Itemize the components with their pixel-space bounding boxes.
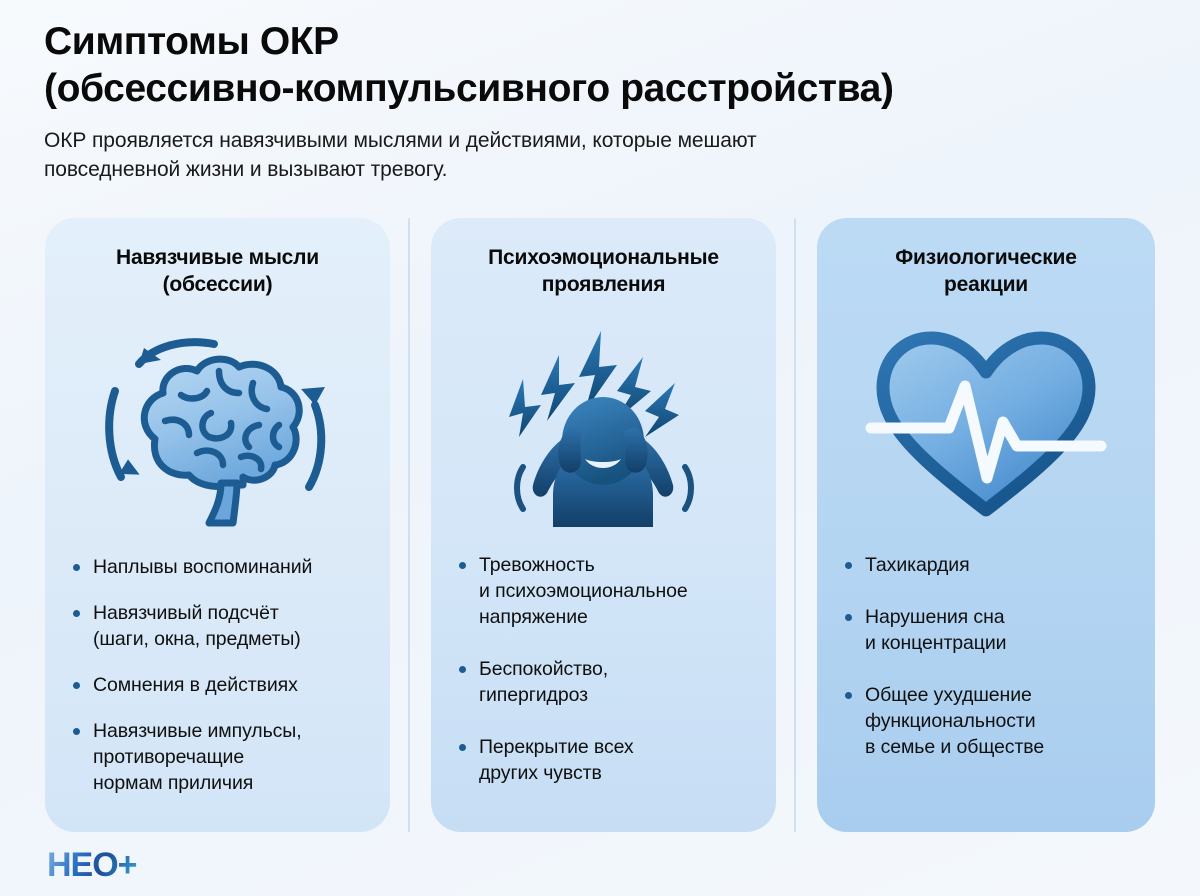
page-subtitle: ОКР проявляется навязчивыми мыслями и де… — [44, 126, 1184, 184]
card-title: Физиологические реакции — [843, 244, 1129, 298]
list-item: Общее ухудшение функциональности в семье… — [843, 682, 1129, 760]
symptom-list: Тахикардия Нарушения сна и концентрации … — [843, 552, 1129, 786]
list-item: Сомнения в действиях — [71, 672, 364, 698]
list-item: Тахикардия — [843, 552, 1129, 578]
brain-cycle-icon — [71, 298, 364, 550]
page-title: Симптомы ОКР (обсессивно-компульсивного … — [44, 18, 1184, 112]
symptom-cards-container: Навязчивые мысли (обсессии) — [45, 218, 1155, 832]
list-item: Навязчивые импульсы, противоречащие норм… — [71, 718, 364, 796]
list-item: Навязчивый подсчёт (шаги, окна, предметы… — [71, 600, 364, 652]
card-divider — [794, 218, 796, 832]
symptom-list: Наплывы воспоминаний Навязчивый подсчёт … — [71, 554, 364, 796]
header: Симптомы ОКР (обсессивно-компульсивного … — [44, 18, 1184, 184]
brand-logo: НЕО+ — [47, 845, 137, 885]
list-item: Наплывы воспоминаний — [71, 554, 364, 580]
card-psychoemotional[interactable]: Психоэмоциональные проявления — [431, 218, 776, 832]
card-divider — [408, 218, 410, 832]
symptom-list: Тревожность и психоэмоциональное напряже… — [457, 552, 750, 812]
list-item: Нарушения сна и концентрации — [843, 604, 1129, 656]
card-obsessive-thoughts[interactable]: Навязчивые мысли (обсессии) — [45, 218, 390, 832]
card-physiological[interactable]: Физиологические реакции — [817, 218, 1155, 832]
list-item: Тревожность и психоэмоциональное напряже… — [457, 552, 750, 630]
card-title: Психоэмоциональные проявления — [457, 244, 750, 298]
list-item: Беспокойство, гипергидроз — [457, 656, 750, 708]
stressed-person-icon — [457, 298, 750, 550]
list-item: Перекрытие всех других чувств — [457, 734, 750, 786]
card-title: Навязчивые мысли (обсессии) — [71, 244, 364, 298]
heart-pulse-icon — [843, 298, 1129, 550]
